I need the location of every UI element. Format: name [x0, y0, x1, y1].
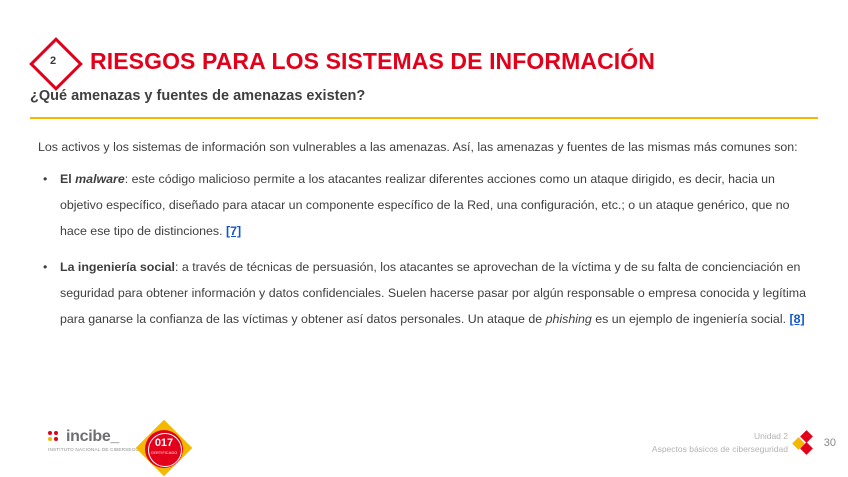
slide-header: 2 RIESGOS PARA LOS SISTEMAS DE INFORMACI…: [30, 38, 655, 84]
footer-diamonds-icon: [794, 432, 812, 454]
seal-caption: CERTIFICADO: [145, 451, 183, 455]
section-number-badge: 2: [30, 38, 76, 84]
divider: [30, 117, 818, 119]
certification-seal: 017 CERTIFICADO: [138, 424, 190, 472]
bullet-1-lead-italic: malware: [75, 172, 125, 186]
bullet-list: • El malware: este código malicioso perm…: [38, 166, 808, 332]
page-number: 30: [824, 437, 836, 449]
bullet-marker: •: [43, 166, 47, 192]
footer-unit-line-2: Aspectos básicos de ciberseguridad: [652, 443, 788, 456]
bullet-2-lead: La ingeniería social: [60, 260, 175, 274]
slide-body: Los activos y los sistemas de informació…: [38, 134, 808, 342]
slide-subtitle: ¿Qué amenazas y fuentes de amenazas exis…: [30, 88, 365, 104]
bullet-2-italic: phishing: [546, 312, 592, 326]
list-item: • El malware: este código malicioso perm…: [38, 166, 808, 244]
reference-link-7[interactable]: [7]: [226, 224, 241, 238]
footer-unit-line-1: Unidad 2: [652, 430, 788, 443]
logo-dots-icon: [48, 431, 62, 445]
seal-number: 017: [145, 437, 183, 449]
logo-wordmark: incibe_: [66, 428, 119, 446]
intro-paragraph: Los activos y los sistemas de informació…: [38, 134, 798, 160]
list-item: • La ingeniería social: a través de técn…: [38, 254, 808, 332]
incibe-logo: incibe_ INSTITUTO NACIONAL DE CIBERSEGUR…: [48, 428, 148, 458]
slide: 2 RIESGOS PARA LOS SISTEMAS DE INFORMACI…: [0, 0, 848, 477]
bullet-2-text-2: es un ejemplo de ingeniería social.: [592, 312, 790, 326]
page-title: RIESGOS PARA LOS SISTEMAS DE INFORMACIÓN: [90, 48, 655, 75]
bullet-1-lead: El: [60, 172, 75, 186]
bullet-1-text: : este código malicioso permite a los at…: [60, 172, 789, 238]
section-number: 2: [30, 38, 76, 84]
bullet-marker: •: [43, 254, 47, 280]
reference-link-8[interactable]: [8]: [789, 312, 804, 326]
footer-unit-info: Unidad 2 Aspectos básicos de ciberseguri…: [652, 430, 788, 456]
